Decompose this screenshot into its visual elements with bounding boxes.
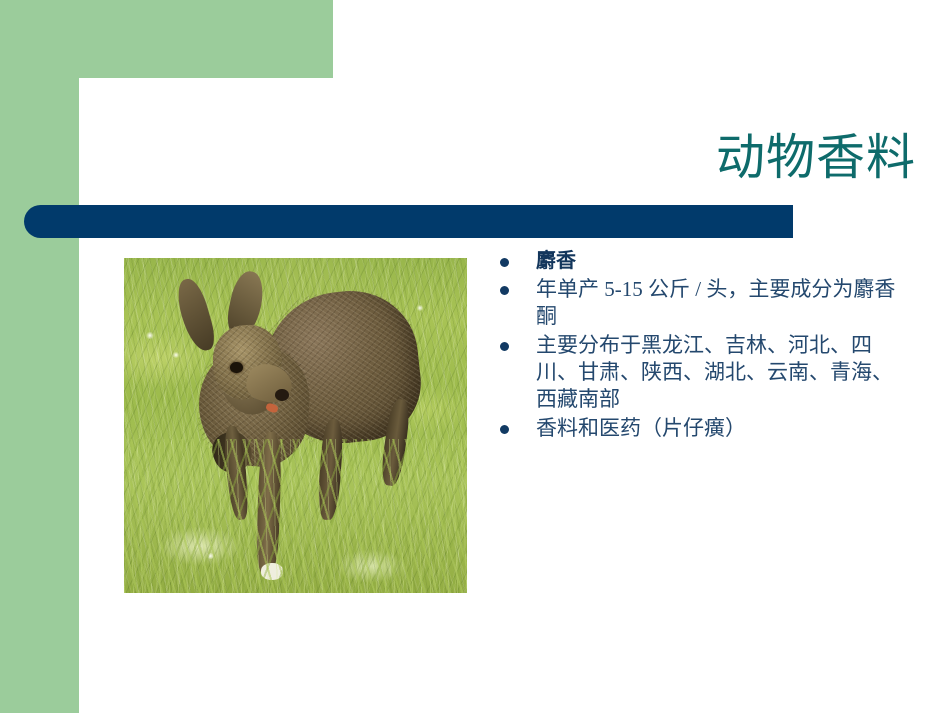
deer-nose — [275, 389, 289, 401]
deer-ear-left — [173, 276, 220, 354]
white-rounded-notch — [79, 78, 349, 158]
title-underline-bar — [24, 205, 793, 238]
page-title: 动物香料 — [716, 129, 916, 187]
bullet-label-yield: 年单产 5-15 公斤 / 头，主要成分为麝香酮 — [536, 276, 900, 330]
list-item: 香料和医药（片仔癀） — [500, 415, 900, 442]
list-item: 年单产 5-15 公斤 / 头，主要成分为麝香酮 — [500, 276, 900, 330]
musk-deer-photo — [124, 258, 467, 593]
list-item: 麝香 — [500, 248, 900, 274]
green-top-block — [0, 0, 333, 78]
slide-canvas: 动物香料 — [0, 0, 950, 713]
bullet-dot-icon — [500, 425, 509, 434]
bullet-dot-icon — [500, 286, 509, 295]
bullet-dot-icon — [500, 258, 509, 267]
bullet-dot-icon — [500, 342, 509, 351]
foreground-grass — [124, 439, 467, 593]
list-item: 主要分布于黑龙江、吉林、河北、四川、甘肃、陕西、湖北、云南、青海、西藏南部 — [500, 332, 900, 413]
green-left-band — [0, 0, 79, 713]
deer-eye — [230, 362, 242, 373]
bullet-label-distribution: 主要分布于黑龙江、吉林、河北、四川、甘肃、陕西、湖北、云南、青海、西藏南部 — [536, 332, 900, 413]
bullet-label-musk: 麝香 — [536, 248, 900, 274]
bullet-label-uses: 香料和医药（片仔癀） — [536, 415, 900, 442]
bullet-list: 麝香 年单产 5-15 公斤 / 头，主要成分为麝香酮 主要分布于黑龙江、吉林、… — [500, 248, 900, 444]
